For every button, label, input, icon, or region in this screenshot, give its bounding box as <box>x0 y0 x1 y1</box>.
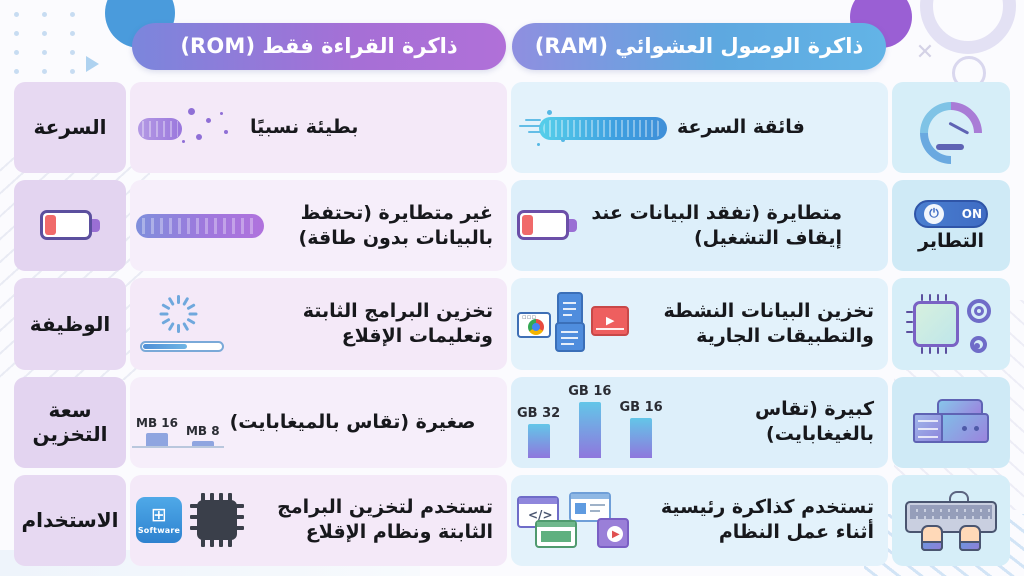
progress-bar-full-purple-art <box>136 211 264 241</box>
rom-column-title: ذاكرة القراءة فقط (ROM) <box>132 23 506 70</box>
comparison-infographic: ذاكرة الوصول العشوائي (RAM) ذاكرة القراء… <box>0 0 1024 576</box>
chart-bar-item: 16 GB <box>619 400 662 458</box>
row-label: سعة التخزين <box>14 398 126 447</box>
chart-bar-item: 8 MB <box>186 424 220 448</box>
video-thumb-icon: ▶ <box>597 518 629 548</box>
hard-disk-icon <box>913 395 989 449</box>
row-icon-cell <box>892 475 1010 566</box>
media-window-icon <box>535 520 577 548</box>
row-icon-cell <box>892 377 1010 468</box>
windows-glyph-icon: ⊞ <box>151 506 167 525</box>
table-row: كبيرة (تقاس بالغيغابايت) 16 GB 16 GB 32 … <box>14 377 1010 468</box>
rom-text: تخزين البرامج الثابتة وتعليمات الإقلاع <box>238 299 493 349</box>
ram-text: كبيرة (تقاس بالغيغابايت) <box>673 397 874 447</box>
header-row: ذاكرة الوصول العشوائي (RAM) ذاكرة القراء… <box>14 18 1010 74</box>
row-icon-cell <box>892 278 1010 369</box>
row-label-cell: السرعة <box>14 82 126 173</box>
ram-cell: تستخدم كذاكرة رئيسية أثناء عمل النظام </… <box>511 475 888 566</box>
table-row: فائقة السرعة بطيئة نسبيًا <box>14 82 1010 173</box>
ram-cell: تخزين البيانات النشطة والتطبيقات الجارية… <box>511 278 888 369</box>
speedometer-icon <box>920 102 982 154</box>
power-toggle-on-icon: ON ⏻ <box>914 200 988 228</box>
rom-cell: تستخدم لتخزين البرامج الثابتة ونظام الإق… <box>130 475 507 566</box>
rom-cell: صغيرة (تقاس بالميغابايت) 8 MB 16 MB <box>130 377 507 468</box>
row-icon-cell: ON ⏻ التطاير <box>892 180 1010 271</box>
rom-capacity-chart: 8 MB 16 MB <box>136 396 220 448</box>
toggle-on-label: ON <box>962 207 982 221</box>
rom-text: غير متطايرة (تحتفظ بالبيانات بدون طاقة) <box>274 201 493 251</box>
speed-bar-fast-art <box>517 108 667 148</box>
table-row: تخزين البيانات النشطة والتطبيقات الجارية… <box>14 278 1010 369</box>
row-icon-cell <box>892 82 1010 173</box>
rom-cell: بطيئة نسبيًا <box>130 82 507 173</box>
cpu-gears-icon <box>909 293 993 355</box>
documents-stack-icon <box>555 322 585 352</box>
bar-label: 32 GB <box>517 406 560 421</box>
row-label-cell: سعة التخزين <box>14 377 126 468</box>
battery-low-icon <box>40 210 100 242</box>
loading-progress-bar <box>140 341 224 352</box>
power-glyph-icon: ⏻ <box>924 204 944 224</box>
speed-pill-slow-art <box>136 106 240 150</box>
rom-cell: تخزين البرامج الثابتة وتعليمات الإقلاع <box>130 278 507 369</box>
loading-spinner-icon <box>136 294 228 354</box>
ram-cell: متطايرة (تفقد البيانات عند إيقاف التشغيل… <box>511 180 888 271</box>
row-label-cell: الاستخدام <box>14 475 126 566</box>
row-label-cell: الوظيفة <box>14 278 126 369</box>
rom-text: تستخدم لتخزين البرامج الثابتة ونظام الإق… <box>254 495 493 545</box>
windows-software-icon: ⊞ Software <box>136 497 182 543</box>
rom-text: بطيئة نسبيًا <box>250 115 358 140</box>
row-label-cell <box>14 180 126 271</box>
ram-column-title: ذاكرة الوصول العشوائي (RAM) <box>512 23 886 70</box>
rom-cell: غير متطايرة (تحتفظ بالبيانات بدون طاقة) <box>130 180 507 271</box>
ram-text: تستخدم كذاكرة رئيسية أثناء عمل النظام <box>639 495 874 545</box>
browser-icon: ▫▫▫ <box>517 312 551 338</box>
row-label: الاستخدام <box>21 508 118 532</box>
chart-bars: 8 MB 16 MB <box>136 396 220 448</box>
bar-label: 16 MB <box>136 416 178 430</box>
rom-text: صغيرة (تقاس بالميغابايت) <box>230 410 476 435</box>
comparison-rows: فائقة السرعة بطيئة نسبيًا <box>14 82 1010 566</box>
row-label: السرعة <box>34 115 107 139</box>
ram-text: تخزين البيانات النشطة والتطبيقات الجارية <box>639 299 874 349</box>
table-row: ON ⏻ التطاير متطايرة (تفقد البيانات عند … <box>14 180 1010 271</box>
keyboard-hands-icon <box>905 491 997 549</box>
table-row: تستخدم كذاكرة رئيسية أثناء عمل النظام </… <box>14 475 1010 566</box>
cpu-chip-software-icons: ⊞ Software <box>136 493 244 547</box>
ram-capacity-chart: 16 GB 16 GB 32 GB <box>517 386 663 458</box>
document-icon <box>557 292 583 326</box>
cpu-chip-icon <box>190 493 244 547</box>
app-icons-cluster-art: ▫▫▫ <box>517 292 629 356</box>
ram-text: فائقة السرعة <box>677 115 805 140</box>
chart-bar-item: 16 GB <box>568 384 611 458</box>
ram-text: متطايرة (تفقد البيانات عند إيقاف التشغيل… <box>587 201 842 251</box>
video-player-icon: ▶ <box>591 306 629 336</box>
bar-label: 16 GB <box>619 400 662 415</box>
row-label: الوظيفة <box>30 312 110 336</box>
battery-empty-icon <box>517 210 577 242</box>
bar-label: 16 GB <box>568 384 611 399</box>
chart-bar-item: 32 GB <box>517 406 560 458</box>
row-icon-caption: التطاير <box>918 230 984 252</box>
ram-cell: كبيرة (تقاس بالغيغابايت) 16 GB 16 GB 32 … <box>511 377 888 468</box>
chart-bars: 16 GB 16 GB 32 GB <box>517 386 663 458</box>
chart-bar-item: 16 MB <box>136 416 178 448</box>
bar-label: 8 MB <box>186 424 220 438</box>
ram-cell: فائقة السرعة <box>511 82 888 173</box>
windows-software-label: Software <box>138 526 180 535</box>
window-app-stack-icon: </> <box>517 492 629 548</box>
